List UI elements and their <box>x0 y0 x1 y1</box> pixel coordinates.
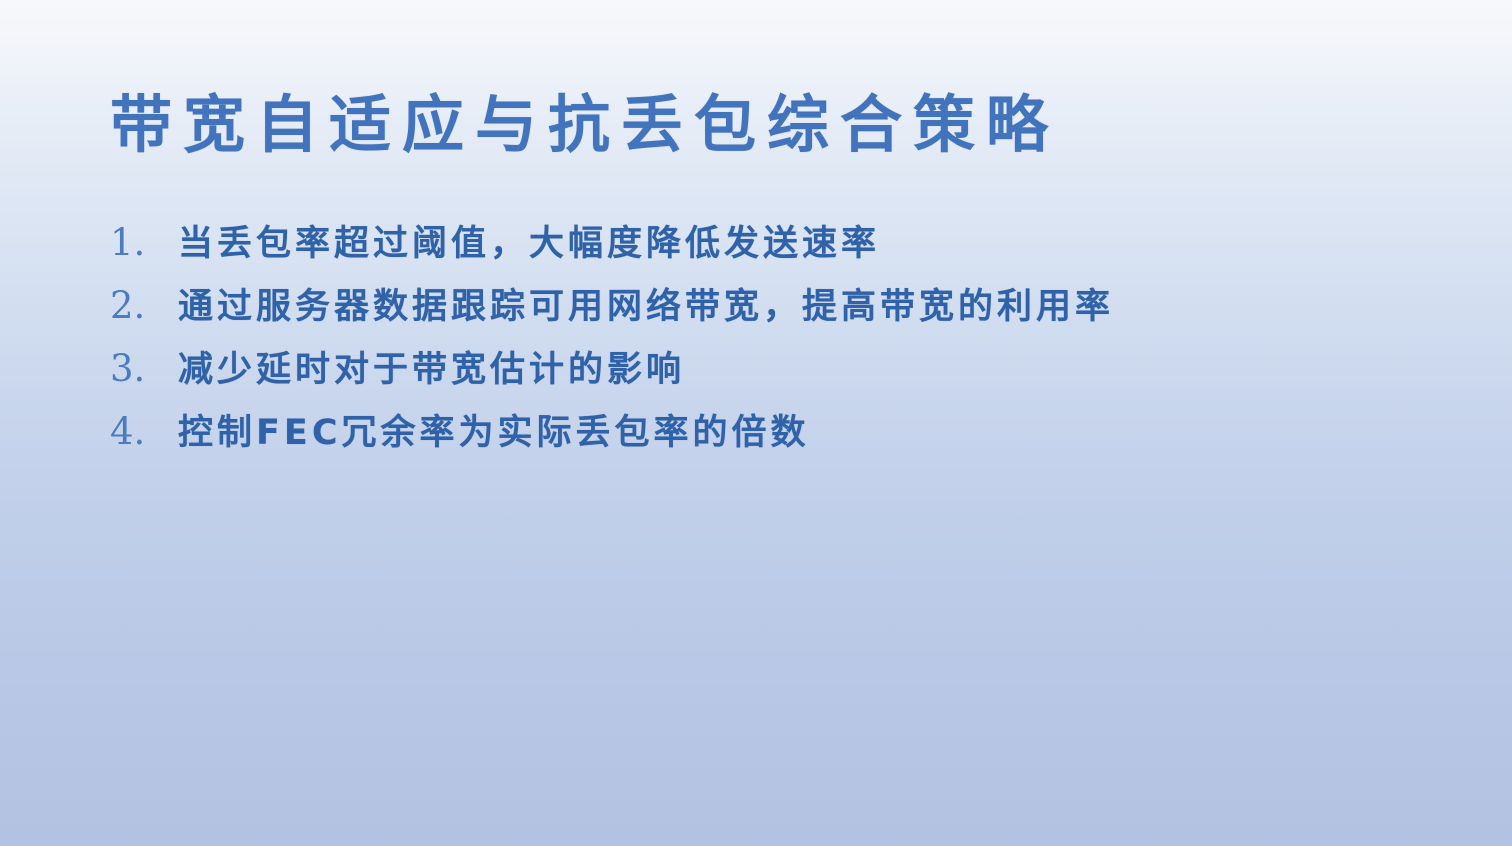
list-item-number: 4. <box>110 413 178 450</box>
list-item: 1. 当丢包率超过阈值，大幅度降低发送速率 <box>110 224 1430 287</box>
list-item-number: 1. <box>110 224 178 261</box>
list-item-number: 2. <box>110 287 178 324</box>
list-item-number: 3. <box>110 350 178 387</box>
presentation-slide: 带宽自适应与抗丢包综合策略 1. 当丢包率超过阈值，大幅度降低发送速率 2. 通… <box>0 0 1512 846</box>
list-item: 3. 减少延时对于带宽估计的影响 <box>110 350 1430 413</box>
strategy-list: 1. 当丢包率超过阈值，大幅度降低发送速率 2. 通过服务器数据跟踪可用网络带宽… <box>110 224 1430 476</box>
list-item: 4. 控制FEC冗余率为实际丢包率的倍数 <box>110 413 1430 476</box>
list-item-label: 通过服务器数据跟踪可用网络带宽，提高带宽的利用率 <box>178 290 1114 325</box>
list-item-label: 当丢包率超过阈值，大幅度降低发送速率 <box>178 227 880 262</box>
page-title: 带宽自适应与抗丢包综合策略 <box>110 92 1410 159</box>
list-item: 2. 通过服务器数据跟踪可用网络带宽，提高带宽的利用率 <box>110 287 1430 350</box>
list-item-label: 控制FEC冗余率为实际丢包率的倍数 <box>178 416 810 451</box>
list-item-label: 减少延时对于带宽估计的影响 <box>178 353 685 388</box>
